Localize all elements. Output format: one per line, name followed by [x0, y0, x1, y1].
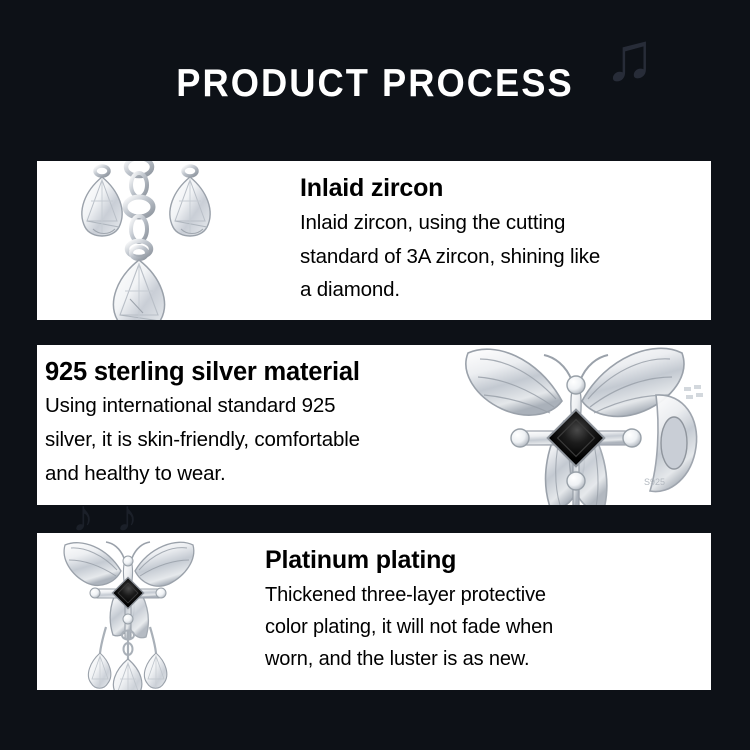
- svg-text:S925: S925: [644, 477, 665, 487]
- butterfly-pendant-graphic: [59, 535, 219, 690]
- panel-text-block: Inlaid zircon Inlaid zircon, using the c…: [300, 175, 711, 306]
- butterfly-charm-graphic: S925: [458, 345, 711, 505]
- panel-body-line: Inlaid zircon, using the cutting: [300, 206, 705, 239]
- feature-panel-platinum-plating: Platinum plating Thickened three-layer p…: [37, 533, 711, 690]
- panel-body-line: silver, it is skin-friendly, comfortable: [45, 423, 476, 457]
- page-header: PRODUCT PROCESS: [0, 0, 750, 160]
- panel-body-line: Using international standard 925: [45, 389, 476, 423]
- panel-heading: Platinum plating: [265, 547, 711, 574]
- panel-body: Inlaid zircon, using the cutting standar…: [300, 206, 705, 306]
- panel-body-line: Thickened three-layer protective: [265, 579, 711, 611]
- panel-body-line: standard of 3A zircon, shining like: [300, 240, 705, 273]
- panel-body: Using international standard 925 silver,…: [45, 389, 476, 491]
- zircon-drops-image: [37, 161, 300, 320]
- butterfly-charm-image: S925: [476, 345, 711, 505]
- butterfly-pendant-image: [37, 533, 227, 690]
- zircon-drops-graphic: [65, 161, 265, 320]
- page-title: PRODUCT PROCESS: [26, 62, 724, 106]
- panel-body-line: worn, and the luster is as new.: [265, 643, 711, 675]
- panel-heading: 925 sterling silver material: [45, 359, 476, 386]
- panel-heading: Inlaid zircon: [300, 175, 705, 202]
- panel-body-line: and healthy to wear.: [45, 457, 476, 491]
- panel-text-block: Platinum plating Thickened three-layer p…: [227, 547, 711, 676]
- panel-body-line: a diamond.: [300, 273, 705, 306]
- feature-panel-sterling-silver: 925 sterling silver material Using inter…: [37, 345, 711, 505]
- feature-panel-inlaid-zircon: Inlaid zircon Inlaid zircon, using the c…: [37, 161, 711, 320]
- panel-text-block: 925 sterling silver material Using inter…: [37, 359, 476, 491]
- panel-body: Thickened three-layer protective color p…: [265, 579, 711, 676]
- panel-body-line: color plating, it will not fade when: [265, 611, 711, 643]
